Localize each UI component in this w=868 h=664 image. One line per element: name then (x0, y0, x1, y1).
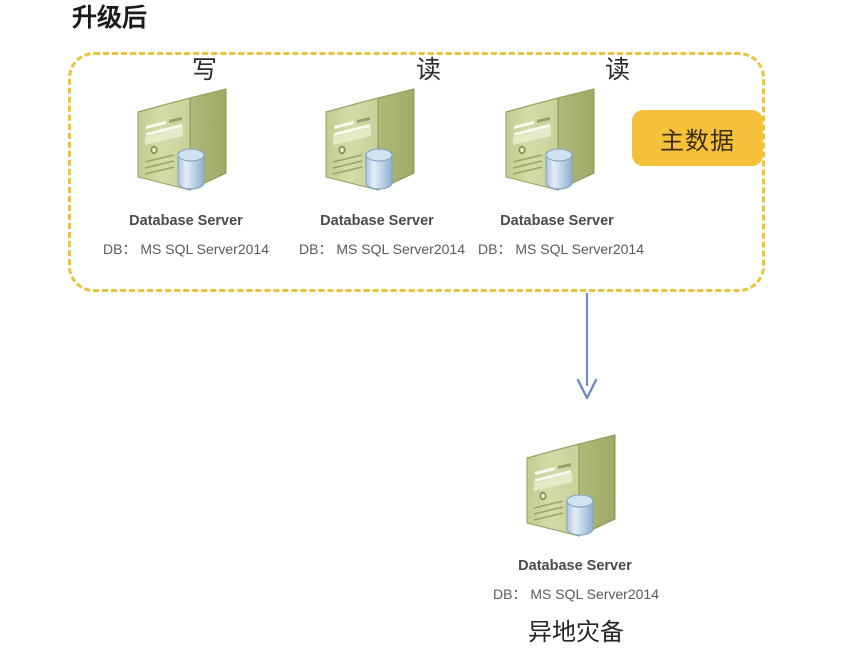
server-tower-icon (500, 78, 608, 202)
server-role-label-3: 读 (605, 55, 630, 85)
server-tower-icon (320, 78, 428, 202)
server-db-2: DB： MS SQL Server2014 (287, 240, 477, 258)
page-title: 升级后 (72, 1, 147, 35)
server-role-label-1: 写 (192, 55, 217, 85)
dr-server-name: Database Server (495, 557, 655, 575)
database-cylinder-icon (178, 149, 204, 189)
diagram-canvas: 升级后 (0, 0, 868, 664)
server-role-label-2: 读 (416, 55, 441, 85)
primary-data-badge: 主数据 (632, 110, 763, 166)
database-cylinder-icon (366, 149, 392, 189)
dr-server-db: DB： MS SQL Server2014 (481, 585, 671, 603)
database-cylinder-icon (546, 149, 572, 189)
server-name-3: Database Server (477, 212, 637, 230)
server-db-1: DB： MS SQL Server2014 (91, 240, 281, 258)
dr-site-caption: 异地灾备 (486, 618, 666, 648)
server-name-2: Database Server (297, 212, 457, 230)
server-tower-icon (521, 424, 629, 548)
server-tower-icon (132, 78, 240, 202)
server-name-1: Database Server (106, 212, 266, 230)
database-cylinder-icon (567, 495, 593, 535)
server-db-3: DB： MS SQL Server2014 (466, 240, 656, 258)
